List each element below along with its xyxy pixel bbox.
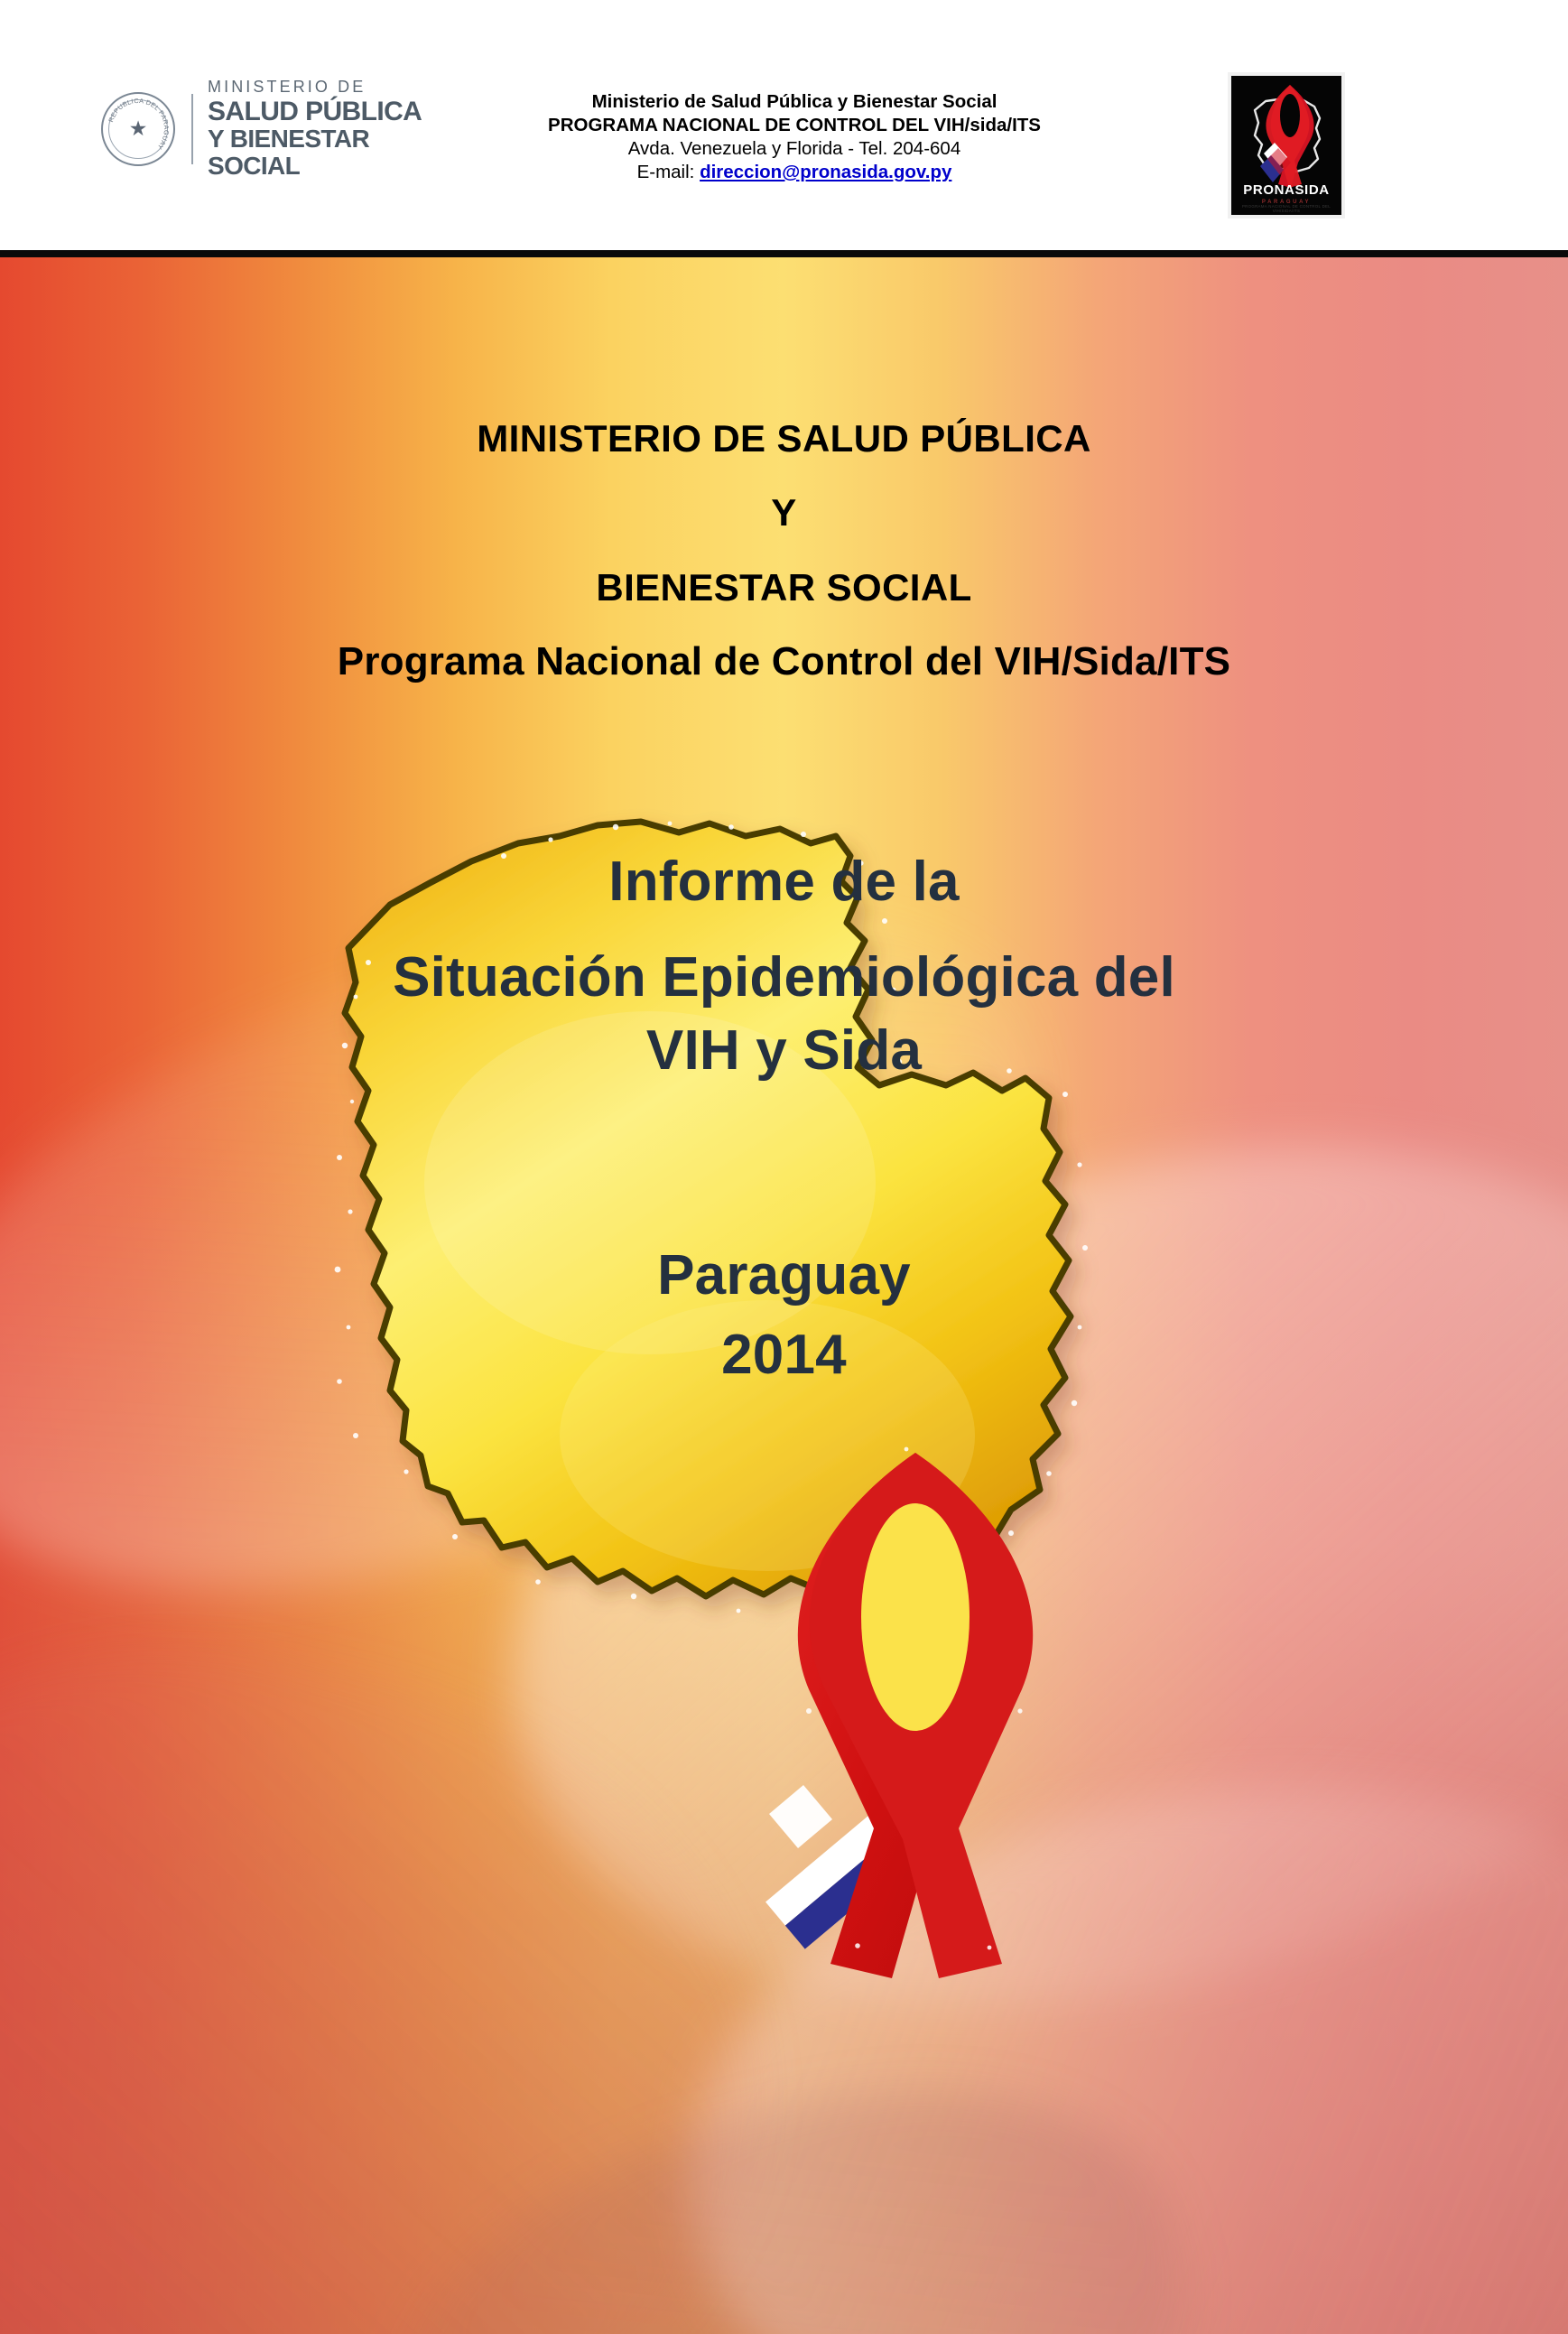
letterhead-line-email: E-mail: direccion@pronasida.gov.py bbox=[469, 161, 1119, 184]
cover-heading-line3: BIENESTAR SOCIAL bbox=[0, 565, 1568, 610]
document-page: REPUBLICA DEL PARAGUAY ★ MINISTERIO DE S… bbox=[0, 0, 1568, 2334]
ministry-wordmark: MINISTERIO DE SALUD PÚBLICA Y BIENESTAR … bbox=[208, 79, 444, 180]
letterhead-line-ministry: Ministerio de Salud Pública y Bienestar … bbox=[469, 90, 1119, 114]
letterhead-line-address: Avda. Venezuela y Florida - Tel. 204-604 bbox=[469, 137, 1119, 161]
star-icon: ★ bbox=[129, 118, 148, 139]
cover-heading-line2: Y bbox=[0, 490, 1568, 535]
report-title-line2: Situación Epidemiológica del bbox=[0, 945, 1568, 1009]
letterhead-line-program: PROGRAMA NACIONAL DE CONTROL DEL VIH/sid… bbox=[469, 114, 1119, 137]
cover-heading-line1: MINISTERIO DE SALUD PÚBLICA bbox=[0, 416, 1568, 461]
header-divider-rule bbox=[0, 250, 1568, 257]
report-year: 2014 bbox=[0, 1323, 1568, 1387]
logo-divider bbox=[191, 94, 193, 164]
pronasida-logo-inner: PRONASIDA PARAGUAY PROGRAMA NACIONAL DE … bbox=[1231, 76, 1341, 215]
pronasida-logo: PRONASIDA PARAGUAY PROGRAMA NACIONAL DE … bbox=[1228, 72, 1345, 219]
ministry-of-health-logo: REPUBLICA DEL PARAGUAY ★ MINISTERIO DE S… bbox=[101, 81, 444, 176]
letterhead-address-block: Ministerio de Salud Pública y Bienestar … bbox=[469, 90, 1119, 184]
aids-ribbon-icon bbox=[1255, 83, 1325, 193]
report-title-line3: VIH y Sida bbox=[0, 1018, 1568, 1083]
report-country: Paraguay bbox=[0, 1243, 1568, 1307]
paraguay-national-seal-icon: REPUBLICA DEL PARAGUAY ★ bbox=[101, 92, 175, 166]
cover-heading-line4: Programa Nacional de Control del VIH/Sid… bbox=[0, 638, 1568, 686]
pronasida-logo-caption: PROGRAMA NACIONAL DE CONTROL DEL VIH/SID… bbox=[1231, 204, 1341, 213]
email-link[interactable]: direccion@pronasida.gov.py bbox=[700, 162, 951, 182]
cover-text: MINISTERIO DE SALUD PÚBLICA Y BIENESTAR … bbox=[0, 257, 1568, 2334]
ministry-wordmark-line2: SALUD PÚBLICA bbox=[208, 98, 444, 126]
report-title-line1: Informe de la bbox=[0, 850, 1568, 914]
ministry-wordmark-line3: Y BIENESTAR SOCIAL bbox=[208, 126, 444, 179]
ministry-wordmark-line1: MINISTERIO DE bbox=[208, 79, 444, 95]
pronasida-logo-title: PRONASIDA bbox=[1231, 182, 1341, 198]
letterhead: REPUBLICA DEL PARAGUAY ★ MINISTERIO DE S… bbox=[0, 0, 1568, 253]
email-label: E-mail: bbox=[637, 162, 700, 182]
cover-artwork: MINISTERIO DE SALUD PÚBLICA Y BIENESTAR … bbox=[0, 257, 1568, 2334]
